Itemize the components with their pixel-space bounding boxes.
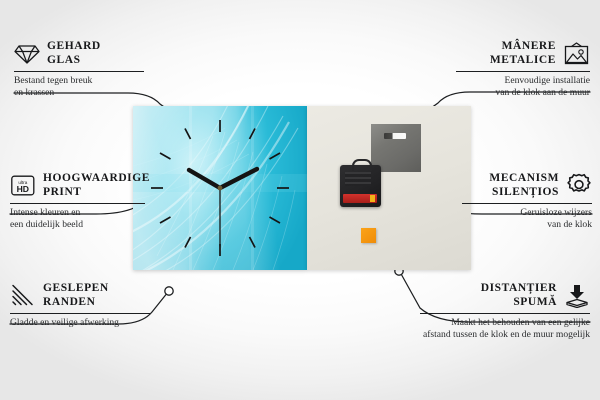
- divider: [420, 313, 590, 314]
- divider: [10, 313, 150, 314]
- ultra-hd-badge-icon: ultra HD: [10, 174, 36, 197]
- mechanism-hook: [352, 159, 372, 171]
- divider: [10, 203, 145, 204]
- diamond-icon: [14, 43, 40, 65]
- feature-title: MÂNERE METALICE: [490, 40, 556, 67]
- connector-dot-geslepen-randen: [165, 287, 173, 295]
- picture-hanger-icon: [563, 42, 590, 66]
- feature-title: DISTANȚIER SPUMĂ: [481, 282, 557, 309]
- feature-header: MÂNERE METALICE: [456, 40, 590, 67]
- feature-title: MECANISM SILENȚIOS: [489, 172, 559, 199]
- infographic-canvas: GEHARD GLAS Bestand tegen breuk en krass…: [0, 0, 600, 400]
- feature-gehard-glas: GEHARD GLAS Bestand tegen breuk en krass…: [14, 40, 144, 98]
- feature-header: GESLEPEN RANDEN: [10, 282, 150, 309]
- feature-header: GEHARD GLAS: [14, 40, 144, 67]
- svg-text:HD: HD: [17, 184, 29, 194]
- feature-subtitle: Gladde en veilige afwerking: [10, 317, 150, 329]
- battery: [343, 194, 377, 203]
- feature-geslepen-randen: GESLEPEN RANDEN Gladde en veilige afwerk…: [10, 282, 150, 329]
- clock-mechanism: [340, 165, 381, 207]
- spacer-arrow-icon: [564, 284, 590, 308]
- product-image: [133, 106, 471, 270]
- feature-title: GESLEPEN RANDEN: [43, 282, 109, 309]
- feature-header: DISTANȚIER SPUMĂ: [420, 282, 590, 309]
- hour-hand: [189, 170, 220, 188]
- divider: [456, 71, 590, 72]
- feature-mecanism-silentios: MECANISM SILENȚIOS Geruisloze wijzers va…: [462, 172, 592, 230]
- mechanism-body: [345, 172, 371, 186]
- minute-hand: [220, 169, 257, 188]
- feature-title: HOOGWAARDIGE PRINT: [43, 172, 150, 199]
- feature-distantier-spuma: DISTANȚIER SPUMĂ Maakt het behouden van …: [420, 282, 590, 340]
- clock-hands: [189, 169, 257, 246]
- clock-back-panel: [307, 106, 471, 270]
- feature-header: MECANISM SILENȚIOS: [462, 172, 592, 199]
- feature-title: GEHARD GLAS: [47, 40, 101, 67]
- gear-icon: [566, 173, 592, 198]
- feature-subtitle: Eenvoudige installatie van de klok aan d…: [456, 75, 590, 98]
- feature-subtitle: Geruisloze wijzers van de klok: [462, 207, 592, 230]
- feature-subtitle: Intense kleuren en een duidelijk beeld: [10, 207, 145, 230]
- feature-subtitle: Bestand tegen breuk en krassen: [14, 75, 144, 98]
- feature-manere-metalice: MÂNERE METALICE Eenvoudige installatie v…: [456, 40, 590, 98]
- clock-center-cap: [218, 186, 223, 191]
- beveled-edge-icon: [10, 284, 36, 307]
- foam-spacer: [361, 228, 376, 243]
- feature-subtitle: Maakt het behouden van een gelijke afsta…: [420, 317, 590, 340]
- divider: [14, 71, 144, 72]
- clock-dial: [133, 106, 307, 270]
- feature-header: ultra HD HOOGWAARDIGE PRINT: [10, 172, 145, 199]
- feature-hoogwaardige-print: ultra HD HOOGWAARDIGE PRINT Intense kleu…: [10, 172, 145, 230]
- divider: [462, 203, 592, 204]
- clock-front-panel: [133, 106, 307, 270]
